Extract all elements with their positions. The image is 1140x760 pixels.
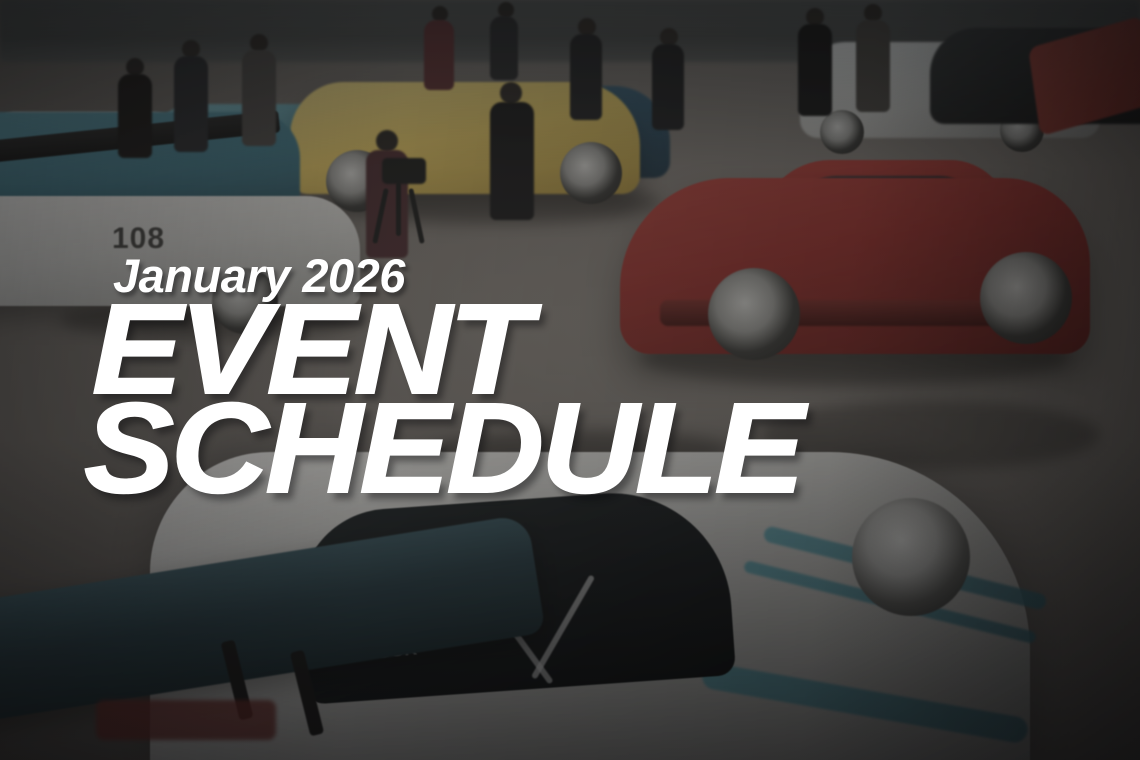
event-schedule-banner: 108 [0, 0, 1140, 760]
headline-line-schedule: SCHEDULE [84, 399, 801, 499]
banner-copy: January 2026 EVENT SCHEDULE [0, 0, 1140, 760]
